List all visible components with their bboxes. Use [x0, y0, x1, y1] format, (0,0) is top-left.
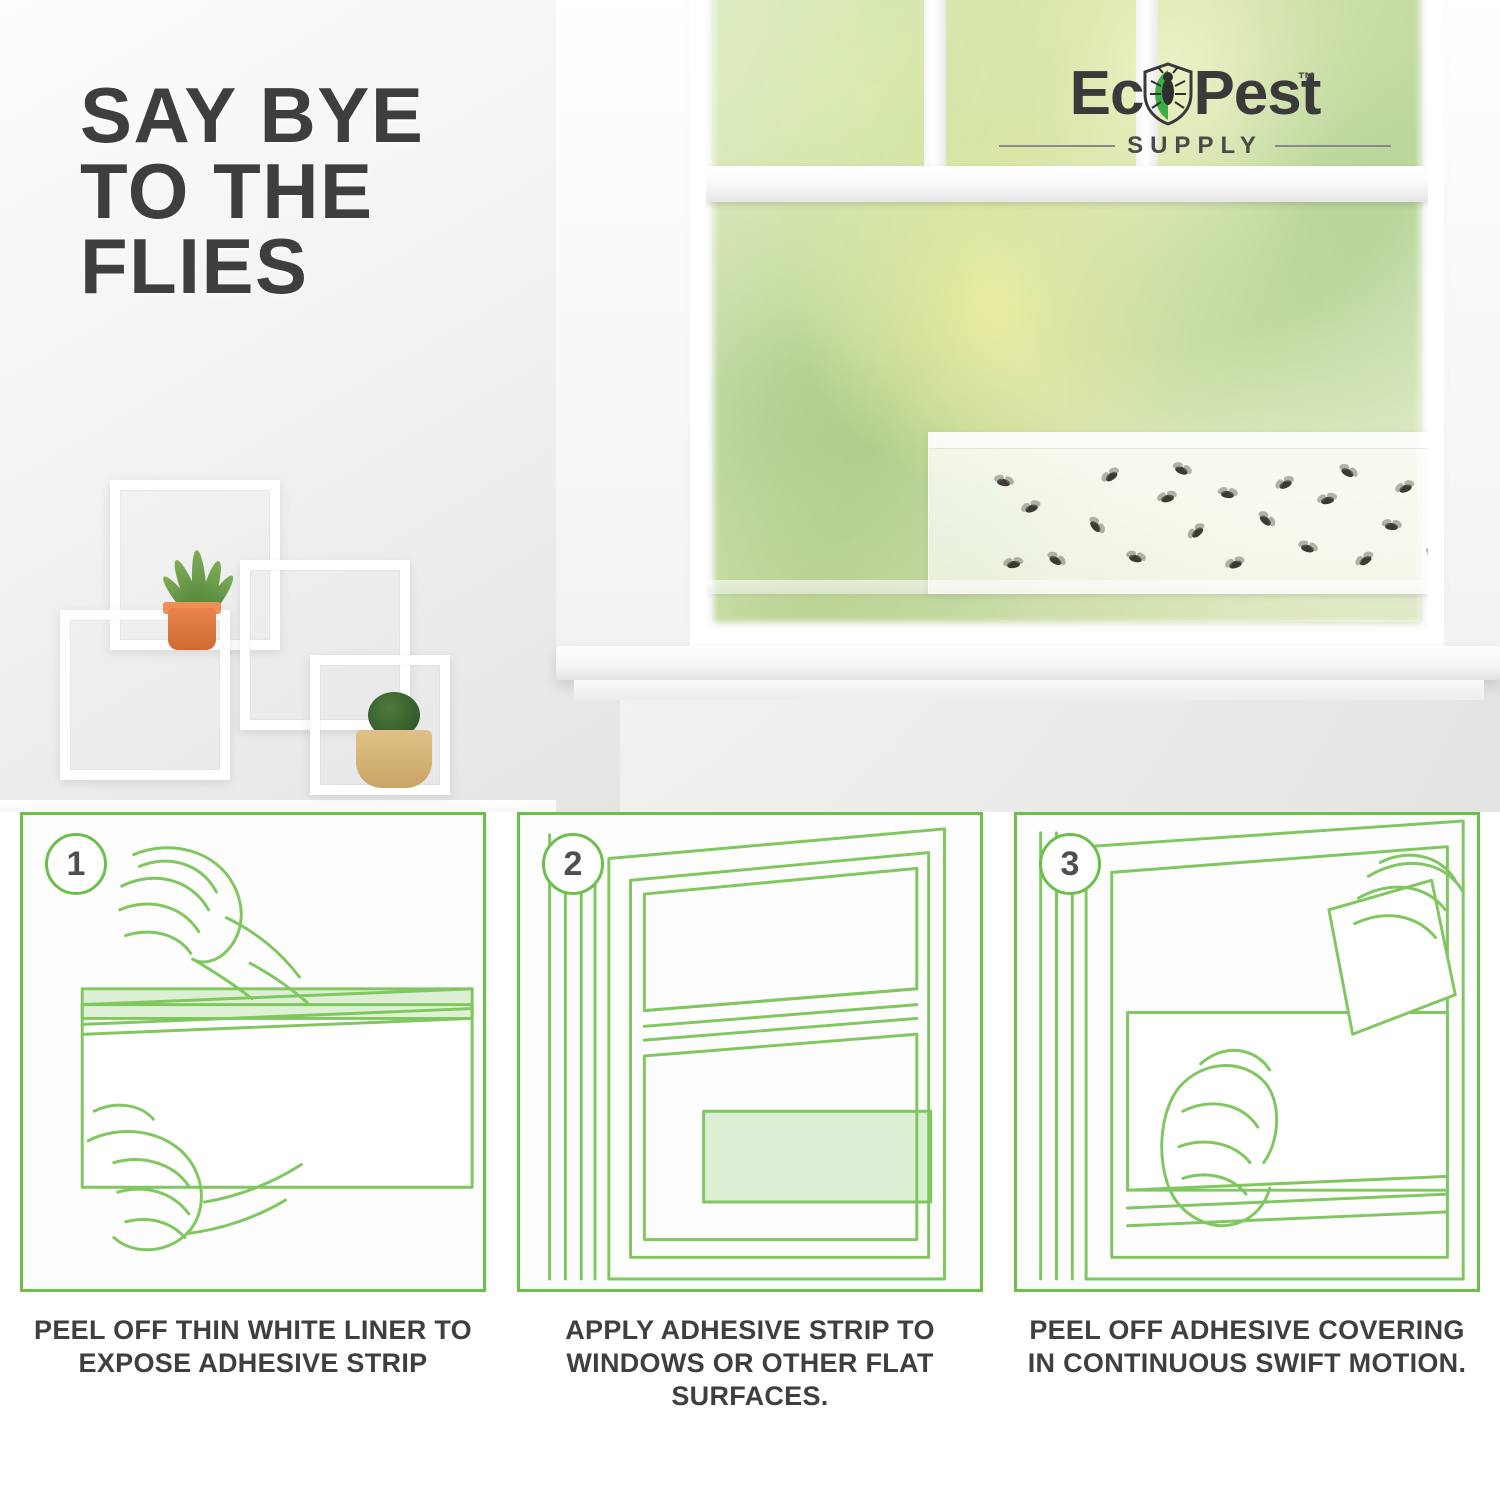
step-2: 2 — [517, 812, 983, 1413]
window-muntin-vertical — [924, 0, 946, 180]
trademark-symbol: ™ — [1297, 70, 1314, 88]
brand-logo: Ec Pest ™ SUPPLY — [985, 62, 1405, 202]
logo-supply-row: SUPPLY — [985, 132, 1405, 160]
step-1-illustration: 1 — [20, 812, 486, 1292]
fly-trap-strip — [928, 432, 1428, 594]
logo-text-eco: Ec — [1070, 59, 1144, 128]
plant-pot — [168, 608, 216, 650]
wall-shelves — [60, 480, 480, 820]
fly — [1358, 554, 1373, 567]
fly — [1228, 559, 1243, 570]
logo-wordmark: Ec Pest ™ — [1070, 62, 1321, 126]
fly — [1024, 503, 1039, 514]
step-1-caption: PEEL OFF THIN WHITE LINER TO EXPOSE ADHE… — [20, 1314, 486, 1380]
fly — [1007, 560, 1021, 569]
fly — [1340, 466, 1355, 478]
step-3-illustration: 3 — [1014, 812, 1480, 1292]
fly — [1320, 496, 1334, 506]
fly — [1174, 465, 1189, 476]
fly — [1104, 470, 1119, 483]
fly — [996, 478, 1010, 488]
step-3: 3 — [1014, 812, 1480, 1380]
hero-scene: SAY BYE TO THE FLIES — [0, 0, 1500, 830]
step-2-illustration: 2 — [517, 812, 983, 1292]
headline-line-2: TO THE — [80, 154, 580, 230]
fly — [1048, 554, 1063, 567]
logo-rule-left — [999, 145, 1115, 147]
window-apron — [574, 680, 1484, 700]
fly-strip-top-edge — [929, 433, 1428, 449]
fly — [1300, 543, 1314, 553]
fly — [1128, 554, 1142, 564]
instruction-steps: 1 — [0, 812, 1500, 1500]
step-1: 1 — [20, 812, 486, 1380]
woven-basket — [356, 730, 432, 788]
fly — [1426, 550, 1428, 563]
fly — [1385, 522, 1399, 530]
fly — [1278, 479, 1293, 491]
page-title: SAY BYE TO THE FLIES — [80, 78, 580, 305]
step-3-caption: PEEL OFF ADHESIVE COVERING IN CONTINUOUS… — [1014, 1314, 1480, 1380]
fly — [1221, 490, 1235, 499]
step-2-caption: APPLY ADHESIVE STRIP TO WINDOWS OR OTHER… — [517, 1314, 983, 1413]
bug-shield-icon — [1141, 62, 1195, 126]
fly — [1160, 494, 1174, 504]
step-2-number: 2 — [542, 833, 604, 895]
fly — [1190, 526, 1204, 540]
headline-line-3: FLIES — [80, 229, 580, 305]
fly — [1089, 519, 1103, 533]
fly — [1258, 514, 1272, 528]
logo-rule-right — [1275, 145, 1391, 147]
headline-line-1: SAY BYE — [80, 78, 580, 154]
fly — [1398, 483, 1413, 494]
step-3-number: 3 — [1039, 833, 1101, 895]
step-1-number: 1 — [45, 833, 107, 895]
window-sill — [556, 646, 1500, 680]
logo-text-supply: SUPPLY — [1127, 132, 1263, 160]
